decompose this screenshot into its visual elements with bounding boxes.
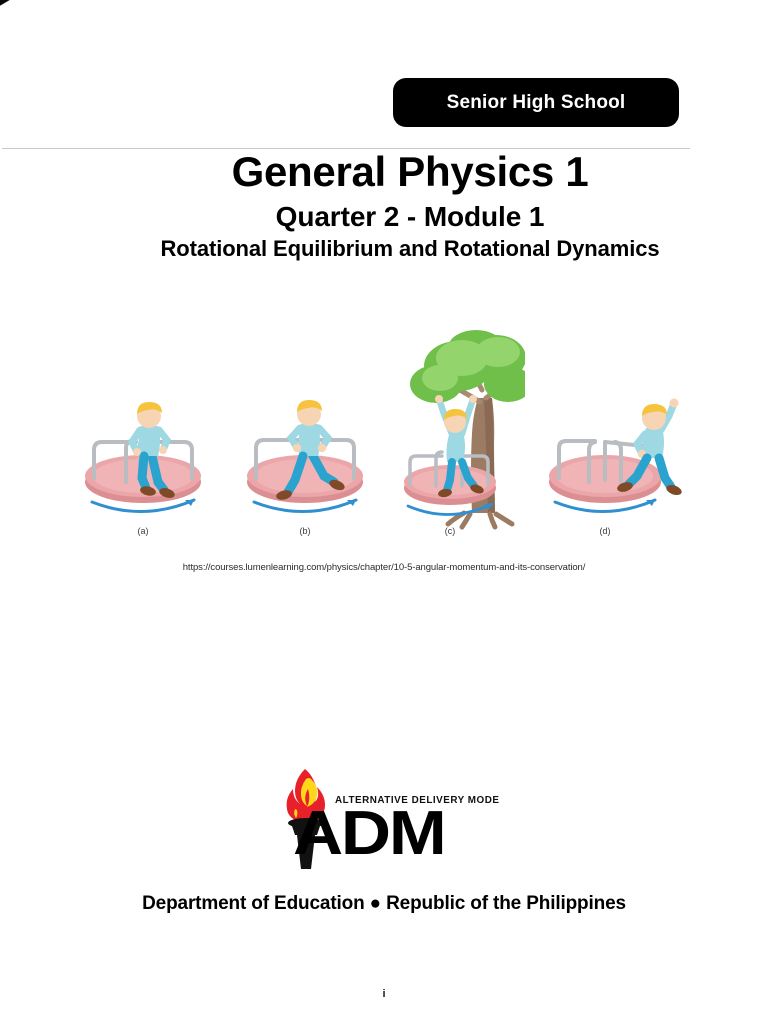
- title-block: General Physics 1 Quarter 2 - Module 1 R…: [0, 150, 768, 262]
- not-for-sale-stamp: Government Property NOT FOR SALE: [0, 0, 390, 101]
- figure-caption-c: (c): [430, 526, 470, 536]
- deped-footer: Department of Education ● Republic of th…: [0, 893, 768, 915]
- figure-panel-a: (a): [78, 330, 208, 535]
- adm-wordmark: ADM: [293, 803, 444, 865]
- figure-panel-d: (d): [545, 330, 685, 535]
- quarter-module-subtitle: Quarter 2 - Module 1: [0, 201, 768, 232]
- merry-go-round-illustration-a: [78, 330, 208, 530]
- figure-panel-b: (b): [240, 330, 370, 535]
- adm-logo-inner: ALTERNATIVE DELIVERY MODE ADM: [269, 765, 499, 875]
- cover-figure: (a): [0, 330, 768, 573]
- module-cover-page: Government Property NOT FOR SALE Senior …: [0, 0, 768, 1024]
- not-for-sale-stamp-text: Government Property NOT FOR SALE: [0, 0, 388, 96]
- figure-caption-d: (d): [585, 526, 625, 536]
- merry-go-round-tree-illustration-c: [400, 328, 525, 533]
- module-topic-subtitle: Rotational Equilibrium and Rotational Dy…: [0, 237, 768, 262]
- subject-title: General Physics 1: [0, 150, 768, 195]
- figure-caption-a: (a): [123, 526, 163, 536]
- figure-panel-c: (c): [400, 328, 525, 538]
- merry-go-round-illustration-b: [240, 330, 370, 530]
- senior-high-school-badge-label: Senior High School: [447, 92, 626, 114]
- figure-panel-row: (a): [0, 330, 768, 560]
- figure-caption-b: (b): [285, 526, 325, 536]
- senior-high-school-badge: Senior High School: [393, 78, 679, 127]
- merry-go-round-illustration-d: [545, 330, 685, 530]
- page-number: i: [0, 988, 768, 1000]
- figure-source-url[interactable]: https://courses.lumenlearning.com/physic…: [0, 562, 768, 573]
- adm-logo: ALTERNATIVE DELIVERY MODE ADM: [0, 765, 768, 880]
